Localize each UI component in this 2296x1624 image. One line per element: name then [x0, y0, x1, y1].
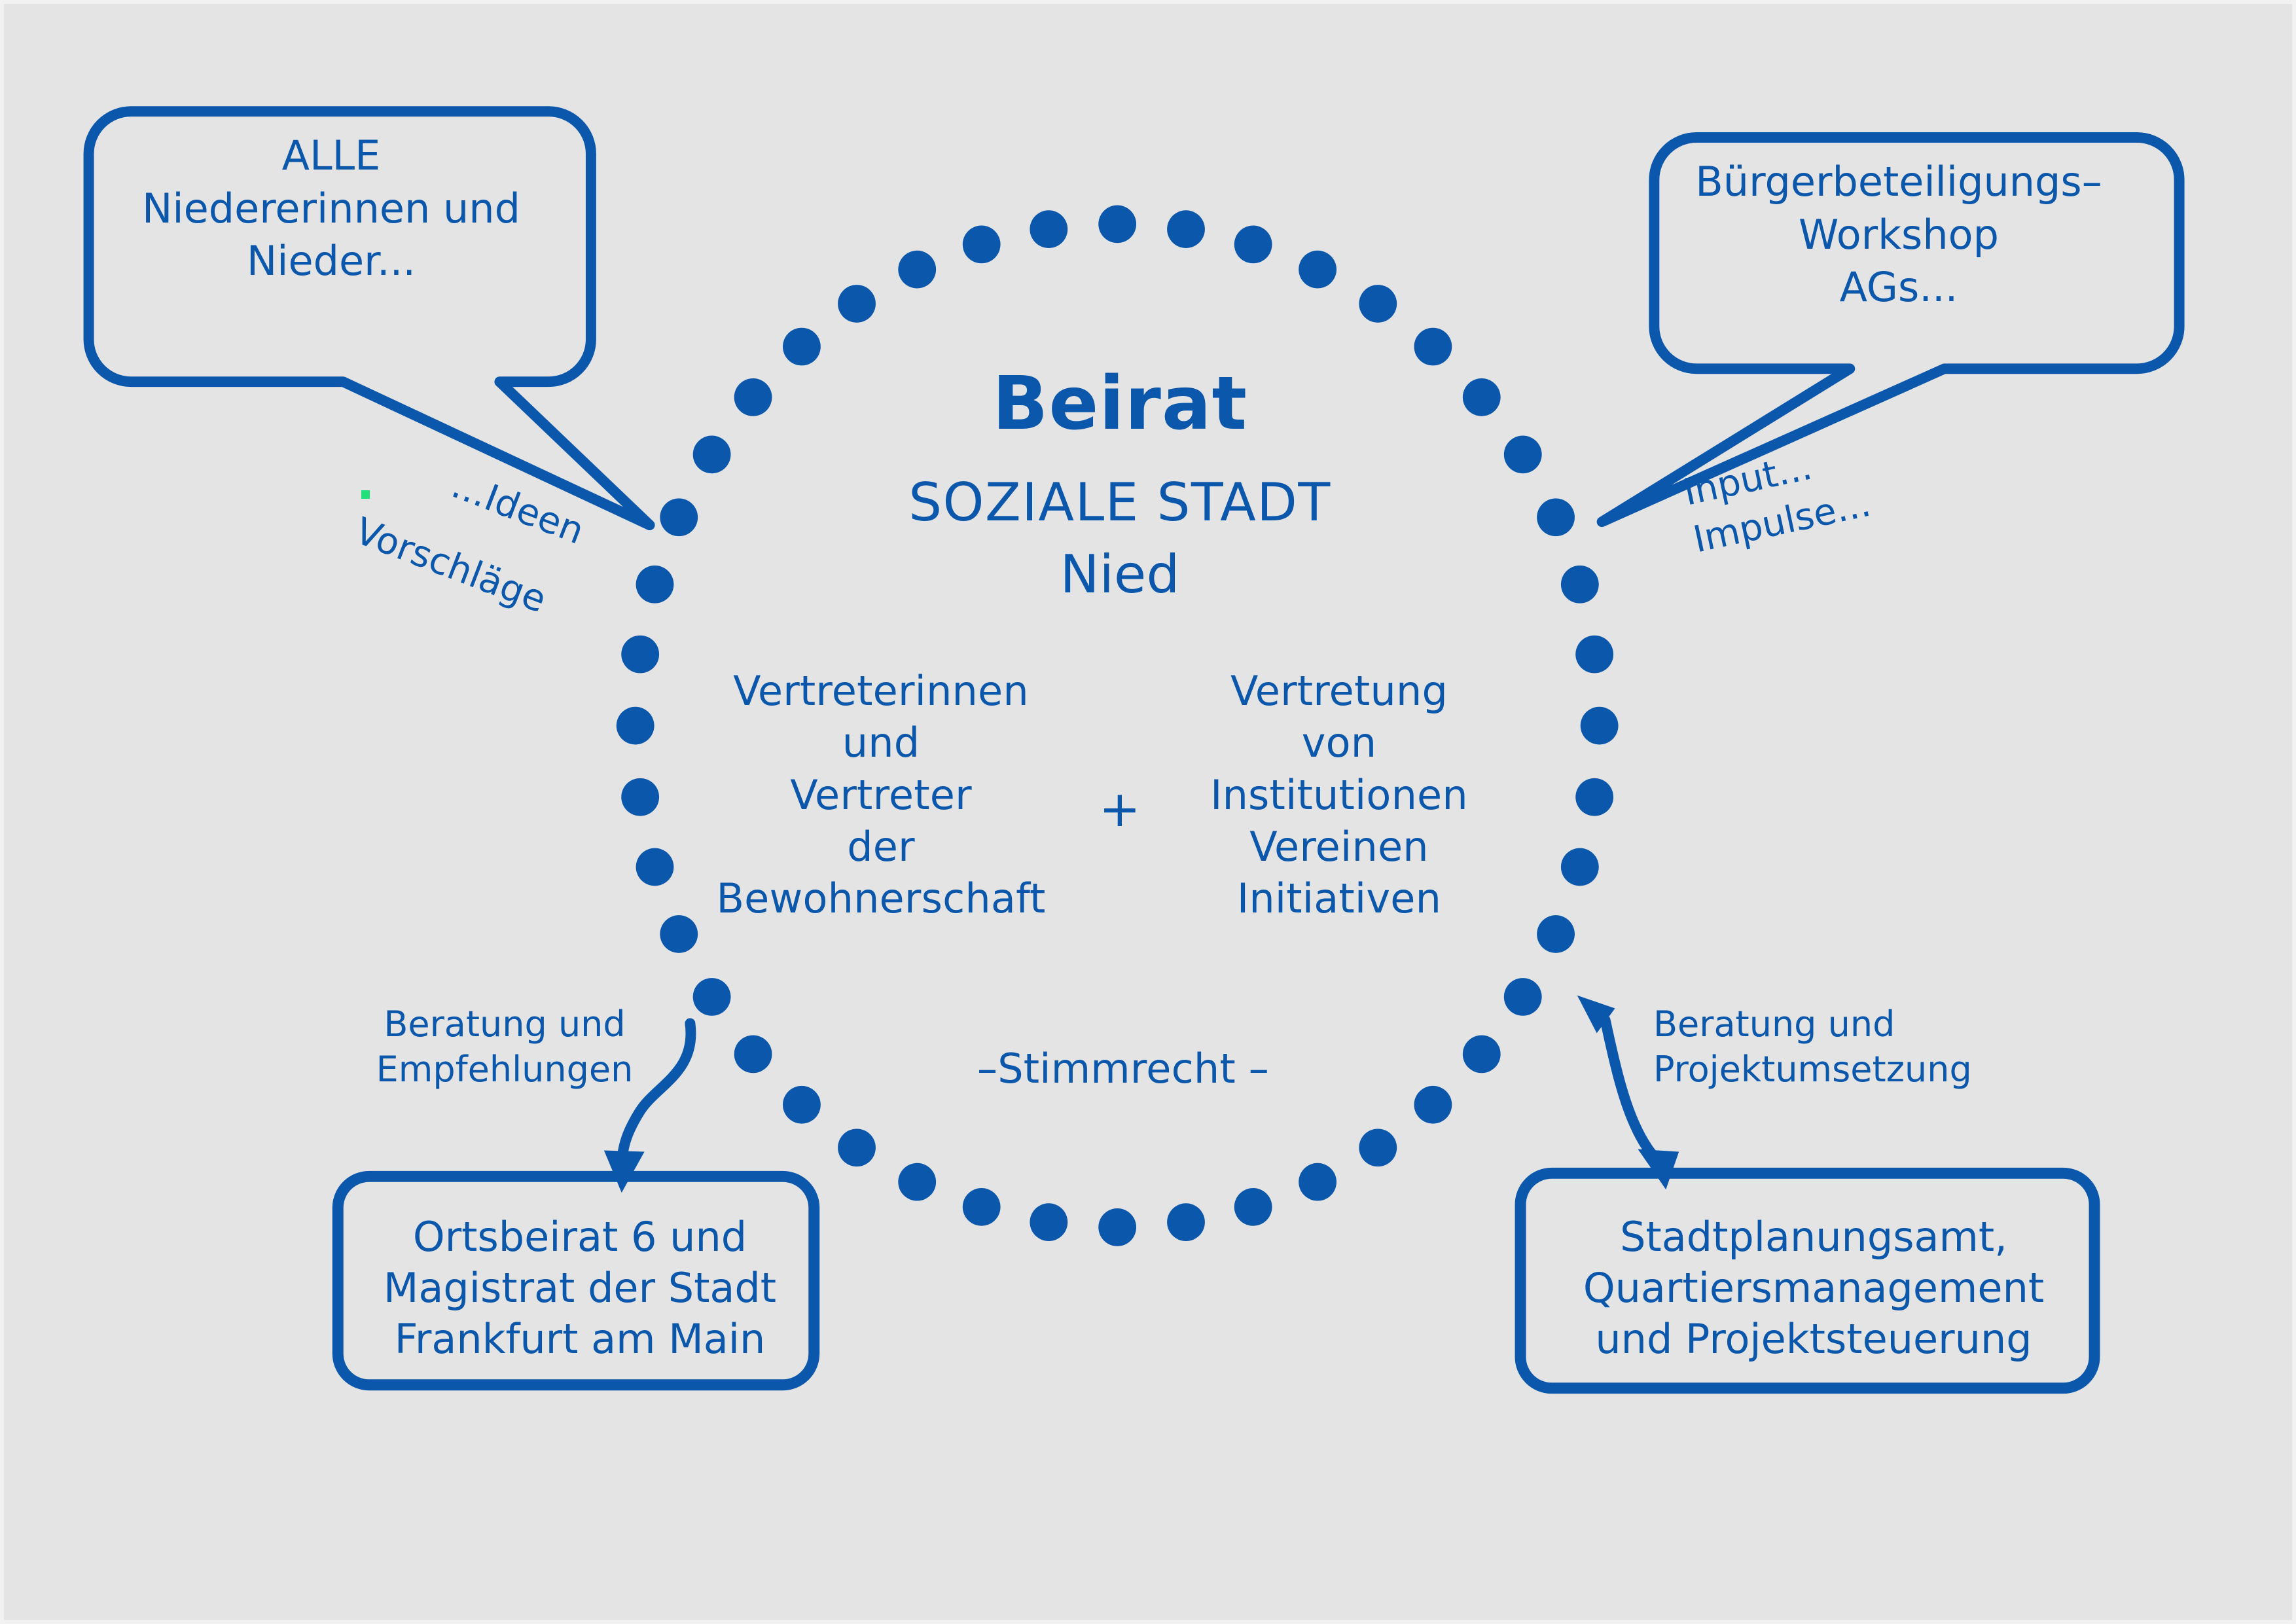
circle-title: Beirat: [825, 361, 1414, 447]
circle-dot: [898, 1163, 936, 1201]
flow-label-left: Beratung und Empfehlungen: [374, 1001, 636, 1092]
circle-subtitle-line1: SOZIALE STADT: [825, 472, 1414, 533]
circle-dot: [1299, 1163, 1336, 1201]
circle-dot: [734, 378, 772, 416]
circle-dot: [1359, 1128, 1397, 1166]
circle-subtitle-line2: Nied: [825, 544, 1414, 605]
circle-dot: [1234, 226, 1272, 264]
circle-dot: [1167, 210, 1205, 248]
circle-dot: [963, 1188, 1001, 1226]
circle-dot: [617, 707, 655, 745]
circle-dot: [1359, 285, 1397, 323]
box-right-label: Stadtplanungsamt, Quartiersmanagement un…: [1529, 1212, 2098, 1365]
circle-dot: [621, 636, 659, 674]
circle-right-column: Vertretung von Institutionen Vereinen In…: [1175, 665, 1503, 925]
circle-dot: [898, 251, 936, 289]
box-left-label: Ortsbeirat 6 und Magistrat der Stadt Fra…: [344, 1212, 816, 1365]
circle-dot: [1504, 978, 1542, 1016]
circle-dot: [838, 285, 876, 323]
circle-dot: [734, 1036, 772, 1074]
diagram-canvas: ALLE Niedererinnen und Nieder... Bürgerb…: [0, 0, 2296, 1624]
circle-dot: [1414, 328, 1452, 366]
circle-dot: [1463, 378, 1501, 416]
flow-label-right: Beratung und Projektumsetzung: [1653, 1001, 1981, 1092]
circle-dot: [1537, 498, 1575, 536]
circle-dot: [783, 1086, 821, 1124]
circle-dot: [1030, 1203, 1067, 1241]
circle-dot: [1098, 1208, 1136, 1246]
circle-dot: [636, 848, 674, 886]
circle-dot: [1575, 636, 1613, 674]
circle-dot: [1234, 1188, 1272, 1226]
bubble-right-label: Bürgerbeteiligungs– Workshop AGs...: [1670, 156, 2128, 314]
circle-dot: [1504, 435, 1542, 473]
circle-dot: [1414, 1086, 1452, 1124]
circle-dot: [693, 435, 731, 473]
circle-dot: [621, 778, 659, 816]
circle-dot: [963, 226, 1001, 264]
circle-dot: [1463, 1036, 1501, 1074]
circle-plus-operator: +: [1077, 780, 1162, 839]
circle-dot: [693, 978, 731, 1016]
circle-footer-stimmrecht: –Stimmrecht –: [920, 1045, 1326, 1092]
circle-dot: [660, 498, 698, 536]
circle-dot: [1581, 707, 1619, 745]
circle-dot: [1299, 251, 1336, 289]
circle-dot: [1030, 210, 1067, 248]
circle-dot: [1561, 848, 1599, 886]
bubble-left-label: ALLE Niedererinnen und Nieder...: [102, 130, 560, 288]
circle-left-column: Vertreterinnen und Vertreter der Bewohne…: [698, 665, 1064, 925]
circle-dot: [636, 566, 674, 604]
circle-dot: [1098, 206, 1136, 244]
circle-dot: [783, 328, 821, 366]
circle-dot: [1575, 778, 1613, 816]
circle-dot: [838, 1128, 876, 1166]
circle-dot: [1561, 566, 1599, 604]
green-marker-dot: [361, 490, 370, 499]
circle-dot: [1537, 915, 1575, 953]
circle-dot: [660, 915, 698, 953]
circle-dot: [1167, 1203, 1205, 1241]
